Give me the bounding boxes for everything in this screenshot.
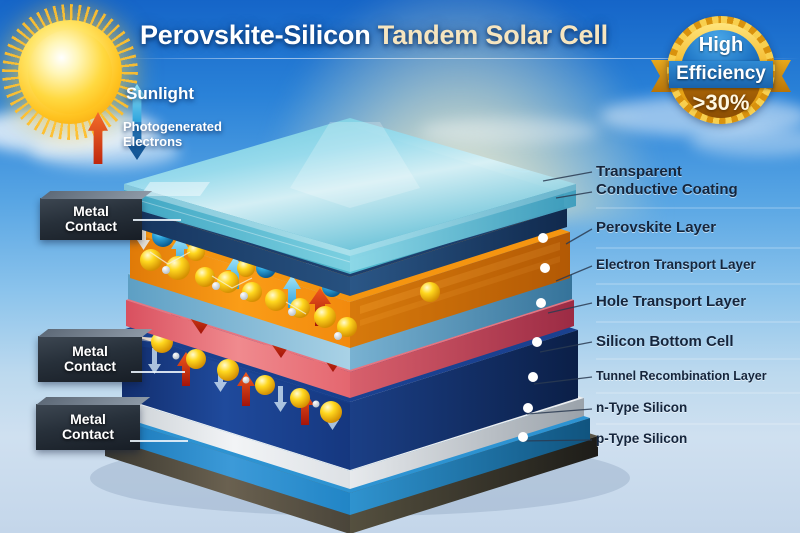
metal-contact-leader-middle [131,371,185,373]
metal-contact-leader-top [133,219,181,221]
page-title: Perovskite-Silicon Tandem Solar Cell [140,20,608,51]
sun-icon [2,4,138,140]
title-part-primary: Perovskite-Silicon [140,20,378,50]
label-p-type-silicon: p-Type Silicon [596,431,687,446]
metal-contact-line-1: Metal [62,412,114,427]
sun-core [28,30,112,114]
metal-contact-label: Metal Contact [62,412,114,443]
metal-contact-line-2: Contact [62,427,114,442]
metal-contact-line-1: Metal [64,344,116,359]
status-badge: High Efficiency >30% [651,14,791,132]
badge-line-2: Efficiency [651,63,791,85]
label-hole-transport-layer: Hole Transport Layer [596,293,746,310]
label-perovskite-layer: Perovskite Layer [596,219,716,236]
metal-plate-top-face [38,329,152,337]
metal-contact-leader-bottom [130,440,188,442]
cloud-icon [420,118,600,144]
metal-contact-label: Metal Contact [64,344,116,375]
metal-contact-line-1: Metal [65,204,117,219]
metal-contact-top: Metal Contact [40,198,142,240]
label-electron-transport-layer: Electron Transport Layer [596,257,756,272]
annotation-photogenerated-electrons: Photogenerated Electrons [123,120,243,150]
label-line-2: Conductive Coating [596,181,738,199]
metal-contact-label: Metal Contact [65,204,117,235]
metal-contact-line-2: Contact [65,219,117,234]
metal-plate-top-face [36,397,150,405]
metal-plate-top-face [40,191,152,199]
metal-contact-line-2: Contact [64,359,116,374]
label-tunnel-recombination-layer: Tunnel Recombination Layer [596,369,767,383]
badge-line-1: High [651,34,791,57]
metal-contact-bottom: Metal Contact [36,404,140,450]
label-line-1: Transparent [596,163,738,181]
label-transparent-conductive-coating: Transparent Conductive Coating [596,163,738,198]
label-n-type-silicon: n-Type Silicon [596,400,687,415]
metal-contact-middle: Metal Contact [38,336,142,382]
badge-line-3: >30% [651,90,791,116]
label-silicon-bottom-cell: Silicon Bottom Cell [596,333,734,350]
annotation-sunlight: Sunlight [126,84,194,104]
title-part-secondary: Tandem Solar Cell [378,20,608,50]
infographic-canvas: Perovskite-Silicon Tandem Solar Cell Hig… [0,0,800,533]
